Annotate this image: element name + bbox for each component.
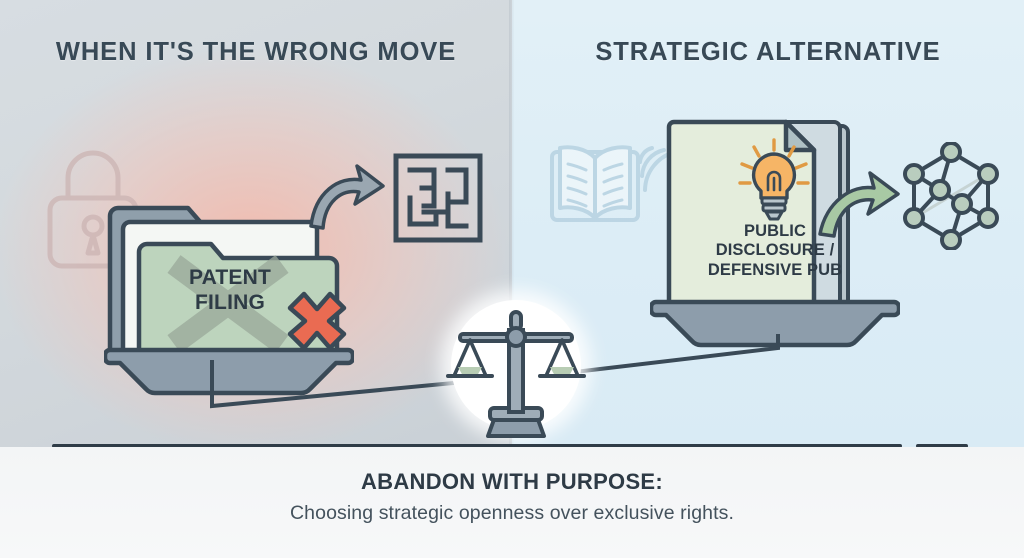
- network-nodes-icon: [898, 142, 1004, 250]
- balance-scale-icon: [440, 296, 592, 448]
- footer-bar: ABANDON WITH PURPOSE: Choosing strategic…: [0, 447, 1024, 558]
- green-arrow-icon: [816, 168, 902, 240]
- left-panel-title: WHEN IT'S THE WRONG MOVE: [0, 38, 512, 67]
- maze-icon: [391, 151, 485, 245]
- lightbulb-icon: [735, 138, 813, 222]
- footer-headline: ABANDON WITH PURPOSE:: [0, 469, 1024, 495]
- right-panel-title: STRATEGIC ALTERNATIVE: [512, 38, 1024, 67]
- open-book-broadcast-icon: [546, 126, 672, 236]
- curved-arrow-icon: [305, 160, 387, 232]
- gray-x-strikethrough-icon: [162, 254, 294, 354]
- footer-subtext: Choosing strategic openness over exclusi…: [0, 502, 1024, 525]
- infographic-canvas: WHEN IT'S THE WRONG MOVE STRATEGIC ALTER…: [0, 0, 1024, 558]
